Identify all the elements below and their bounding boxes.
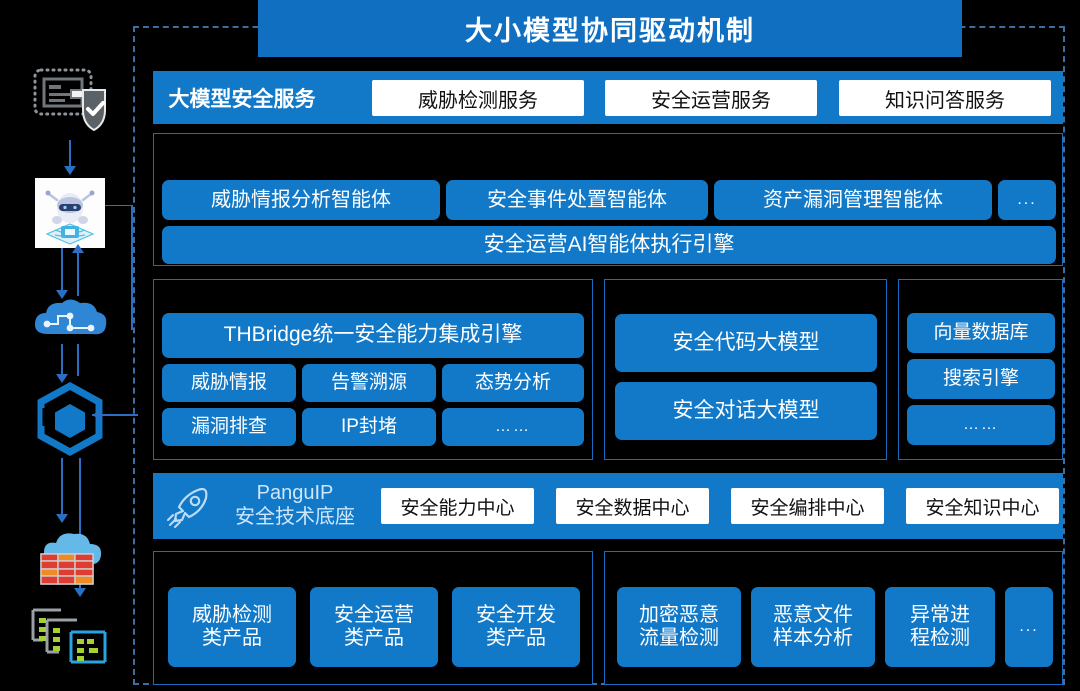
- product-encrypted-traffic-detection[interactable]: 加密恶意 流量检测: [617, 587, 741, 667]
- capability-situation-analysis[interactable]: 态势分析: [442, 364, 584, 402]
- agent-more-button[interactable]: ...: [998, 180, 1056, 220]
- capability-alert-tracing[interactable]: 告警溯源: [302, 364, 436, 402]
- agent-incident-response[interactable]: 安全事件处置智能体: [446, 180, 708, 220]
- platform-brand-subtitle: 安全技术底座: [215, 505, 375, 529]
- document-shield-icon: [31, 66, 109, 139]
- agent-execution-engine[interactable]: 安全运营AI智能体执行引擎: [162, 226, 1056, 264]
- rail-arrow-2b: [77, 252, 79, 296]
- rail-arrow-5-head: [74, 588, 86, 597]
- model-security-dialogue[interactable]: 安全对话大模型: [615, 382, 877, 440]
- capability-threat-intel[interactable]: 威胁情报: [162, 364, 296, 402]
- rail-arrow-2b-head: [72, 244, 84, 253]
- products-panel-right: 加密恶意 流量检测 恶意文件 样本分析 异常进 程检测 ...: [604, 551, 1063, 685]
- large-models-panel: 安全代码大模型 安全对话大模型: [604, 279, 887, 460]
- page-title: 大小模型协同驱动机制: [258, 0, 962, 57]
- rail-arrow-1-head: [64, 166, 76, 175]
- agent-asset-vuln-management[interactable]: 资产漏洞管理智能体: [714, 180, 992, 220]
- data-services-panel: 向量数据库 搜索引擎 ……: [898, 279, 1063, 460]
- diagram-root: 大小模型协同驱动机制 大模型安全服务 威胁检测服务 安全运营服务 知识问答服务 …: [0, 0, 1080, 691]
- data-search-engine[interactable]: 搜索引擎: [907, 359, 1055, 399]
- services-row: 大模型安全服务 威胁检测服务 安全运营服务 知识问答服务: [153, 71, 1063, 124]
- rocket-icon: [167, 486, 211, 533]
- brain-cloud-icon: [30, 296, 110, 349]
- product-abnormal-process-detection[interactable]: 异常进 程检测: [885, 587, 995, 667]
- rail-arrow-3b: [77, 344, 79, 376]
- capability-vuln-investigation[interactable]: 漏洞排查: [162, 408, 296, 446]
- center-card-knowledge[interactable]: 安全知识中心: [906, 488, 1059, 524]
- service-card-knowledge-qa[interactable]: 知识问答服务: [839, 80, 1051, 116]
- products-panel-left: 威胁检测 类产品 安全运营 类产品 安全开发 类产品: [153, 551, 593, 685]
- product-security-development[interactable]: 安全开发 类产品: [452, 587, 580, 667]
- capability-more[interactable]: ……: [442, 408, 584, 446]
- agents-panel: 威胁情报分析智能体 安全事件处置智能体 资产漏洞管理智能体 ... 安全运营AI…: [153, 133, 1063, 266]
- platform-row: PanguIP 安全技术底座 安全能力中心 安全数据中心 安全编排中心 安全知识…: [153, 473, 1063, 539]
- product-malicious-file-analysis[interactable]: 恶意文件 样本分析: [751, 587, 875, 667]
- center-card-orchestration[interactable]: 安全编排中心: [731, 488, 884, 524]
- product-more-button[interactable]: ...: [1005, 587, 1053, 667]
- service-card-security-operations[interactable]: 安全运营服务: [605, 80, 817, 116]
- model-security-code[interactable]: 安全代码大模型: [615, 314, 877, 372]
- rail-arrow-4-head: [56, 514, 68, 523]
- capability-ip-blocking[interactable]: IP封堵: [302, 408, 436, 446]
- agent-threat-intel[interactable]: 威胁情报分析智能体: [162, 180, 440, 220]
- platform-brand-name: PanguIP: [215, 481, 375, 505]
- log-data-icon: [27, 598, 113, 675]
- rail-arrow-4: [61, 458, 63, 516]
- rail-arrow-3: [61, 344, 63, 376]
- data-more[interactable]: ……: [907, 405, 1055, 445]
- services-row-label: 大模型安全服务: [153, 83, 331, 113]
- capability-panel: THBridge统一安全能力集成引擎 威胁情报 告警溯源 态势分析 漏洞排查 I…: [153, 279, 593, 460]
- service-card-threat-detection[interactable]: 威胁检测服务: [372, 80, 584, 116]
- capability-headline-thbridge[interactable]: THBridge统一安全能力集成引擎: [162, 313, 584, 358]
- product-threat-detection[interactable]: 威胁检测 类产品: [168, 587, 296, 667]
- product-security-operations[interactable]: 安全运营 类产品: [310, 587, 438, 667]
- rail-return-arrow: [78, 404, 140, 426]
- data-vector-database[interactable]: 向量数据库: [907, 313, 1055, 353]
- center-card-capability[interactable]: 安全能力中心: [381, 488, 534, 524]
- cloud-firewall-icon: [31, 528, 109, 595]
- left-icon-rail: [0, 0, 140, 691]
- rail-arrow-1: [69, 140, 71, 168]
- center-card-data[interactable]: 安全数据中心: [556, 488, 709, 524]
- rail-arrow-2: [61, 248, 63, 292]
